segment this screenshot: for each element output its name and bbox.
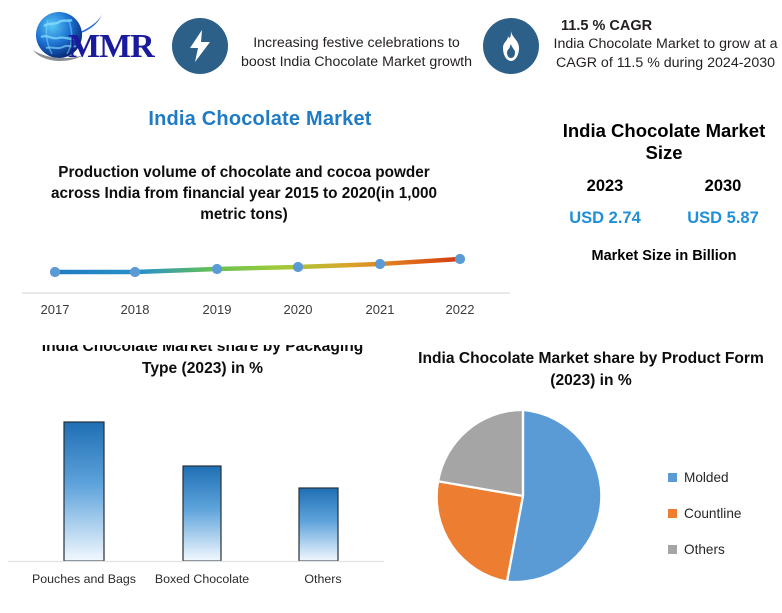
pie-chart-title: India Chocolate Market share by Product … xyxy=(410,348,772,392)
legend-label-countline: Countline xyxy=(684,506,741,521)
legend-item-countline[interactable]: Countline xyxy=(668,506,778,521)
market-size-title: India Chocolate Market Size xyxy=(546,120,782,164)
mmr-logo[interactable]: MMR xyxy=(6,4,166,76)
market-size-value-2030: USD 5.87 xyxy=(687,209,759,228)
line-tick-2020: 2020 xyxy=(284,302,313,317)
legend-swatch-countline xyxy=(668,509,677,518)
legend-item-others[interactable]: Others xyxy=(668,542,778,557)
line-series-path xyxy=(55,259,460,272)
bar-label-others: Others xyxy=(304,572,341,586)
infographic-canvas: MMR Increasing festive celebrations to b… xyxy=(0,0,782,613)
market-size-year-2030: 2030 xyxy=(705,177,742,196)
flame-glyph xyxy=(499,30,523,62)
line-tick-2018: 2018 xyxy=(121,302,150,317)
flame-icon xyxy=(483,18,539,74)
festive-callout-text: Increasing festive celebrations to boost… xyxy=(234,34,479,72)
market-size-year-2023: 2023 xyxy=(587,177,624,196)
market-size-footnote: Market Size in Billion xyxy=(546,248,782,264)
market-size-value-2023: USD 2.74 xyxy=(569,209,641,228)
bar-label-pouches-and-bags: Pouches and Bags xyxy=(32,572,136,586)
cagr-body-text: India Chocolate Market to grow at a CAGR… xyxy=(549,35,782,73)
bar-chart-x-axis-labels: Pouches and Bags Boxed Chocolate Others xyxy=(0,572,392,592)
line-tick-2017: 2017 xyxy=(41,302,70,317)
bar-pouches-and-bags xyxy=(64,422,104,561)
legend-swatch-molded xyxy=(668,473,677,482)
bolt-glyph xyxy=(187,29,213,63)
page-title: India Chocolate Market xyxy=(60,108,460,131)
packaging-type-bar-chart xyxy=(0,400,392,570)
legend-item-molded[interactable]: Molded xyxy=(668,470,778,485)
line-chart-x-axis-labels: 2017 2018 2019 2020 2021 2022 xyxy=(10,302,520,322)
market-size-panel: India Chocolate Market Size 2023 2030 US… xyxy=(546,120,782,264)
bar-label-boxed-chocolate: Boxed Chocolate xyxy=(155,572,249,586)
product-form-pie-chart xyxy=(435,408,615,584)
pie-chart-legend: Molded Countline Others xyxy=(668,470,778,578)
line-tick-2022: 2022 xyxy=(446,302,475,317)
legend-swatch-others xyxy=(668,545,677,554)
bar-boxed-chocolate xyxy=(183,466,221,561)
cagr-headline: 11.5 % CAGR xyxy=(549,18,782,34)
line-chart-title: Production volume of chocolate and cocoa… xyxy=(34,162,454,225)
market-size-values: USD 2.74 USD 5.87 xyxy=(546,209,782,228)
legend-label-molded: Molded xyxy=(684,470,729,485)
production-volume-line-chart xyxy=(10,240,520,298)
lightning-bolt-icon xyxy=(172,18,228,74)
bar-others xyxy=(299,488,338,561)
cagr-callout: 11.5 % CAGR India Chocolate Market to gr… xyxy=(549,18,782,73)
line-tick-2019: 2019 xyxy=(203,302,232,317)
logo-wordmark: MMR xyxy=(68,30,154,64)
market-size-years: 2023 2030 xyxy=(546,177,782,196)
line-tick-2021: 2021 xyxy=(366,302,395,317)
legend-label-others: Others xyxy=(684,542,725,557)
section-divider xyxy=(0,325,782,345)
